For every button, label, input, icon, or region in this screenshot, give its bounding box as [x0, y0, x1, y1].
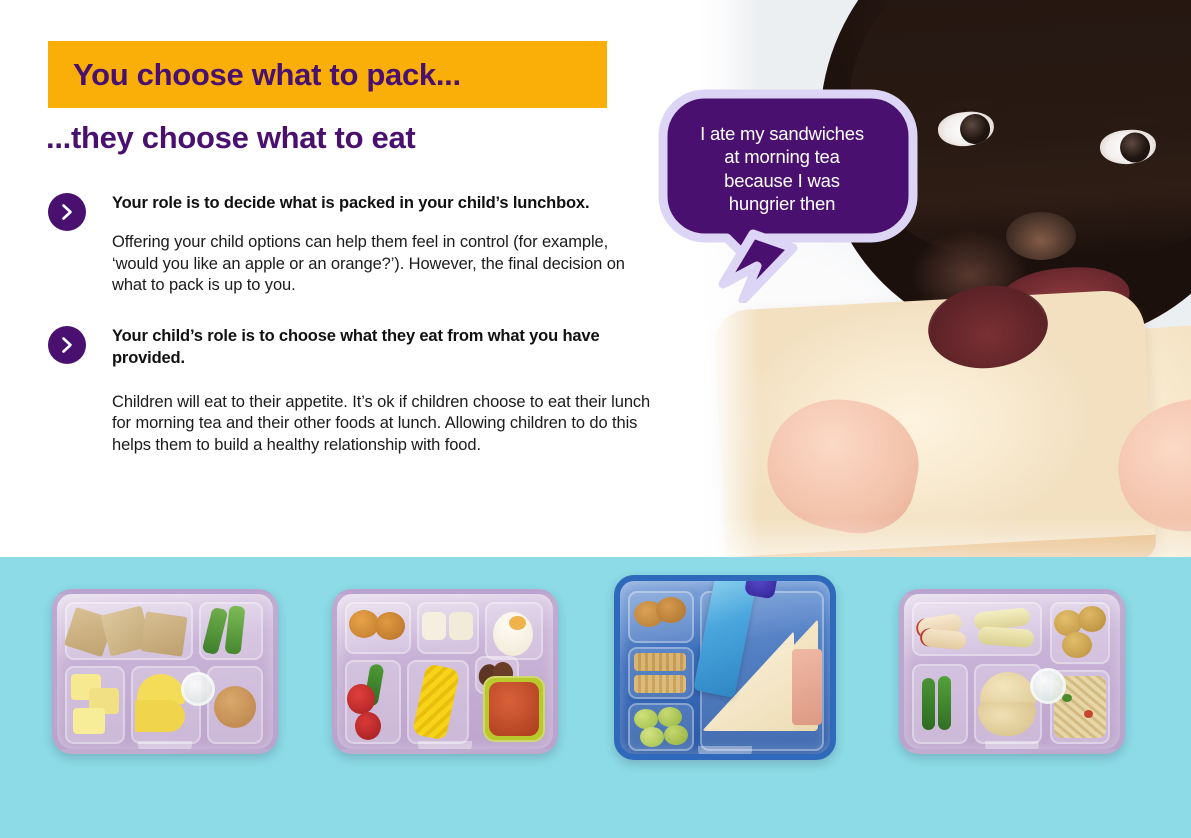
roti-wrap: [978, 702, 1036, 736]
fritter: [375, 612, 405, 640]
chevron-right-icon: [48, 193, 86, 231]
lunchbox-3-latch: [698, 746, 752, 758]
muesli-bar: [634, 675, 686, 693]
strawberry: [347, 684, 375, 714]
baked-beans: [489, 682, 539, 736]
cucumber-stick: [225, 605, 246, 654]
bullet-2-text: Children will eat to their appetite. It’…: [112, 370, 652, 457]
dip-pot: [1030, 668, 1066, 704]
speech-bubble: I ate my sandwiches at morning tea becau…: [657, 88, 919, 303]
grape: [640, 727, 664, 747]
rice-carrot: [1084, 710, 1093, 718]
dip-pot: [181, 672, 215, 706]
lunchbox-4-cell-falafel: [1050, 602, 1110, 664]
speech-line-4: hungrier then: [657, 192, 907, 215]
poster-page: You choose what to pack... ...they choos…: [0, 0, 1191, 838]
grape: [664, 725, 688, 745]
anzac-biscuit: [656, 597, 686, 623]
child-nose: [1006, 212, 1076, 260]
photo-bottom-fade: [700, 517, 1191, 557]
lunchbox-4-tray: [899, 589, 1125, 754]
lunchbox-2-cell-fritters: [345, 602, 411, 654]
rice-ball: [449, 612, 473, 640]
speech-line-1: I ate my sandwiches: [657, 122, 907, 145]
corn-cob: [412, 663, 460, 740]
pear-slice: [977, 626, 1034, 648]
muesli-bar: [634, 653, 686, 671]
falafel-ball: [1078, 606, 1106, 632]
chevron-right-icon: [48, 326, 86, 364]
cucumber-stick: [922, 678, 935, 730]
lunchbox-3-cell-biscuits: [628, 591, 694, 643]
grape: [634, 709, 658, 729]
bullet-2-heading: Your child’s role is to choose what they…: [112, 326, 612, 370]
left-content-panel: You choose what to pack... ...they choos…: [0, 0, 700, 557]
lunchbox-2-latch: [418, 741, 472, 753]
lunchbox-3: [614, 575, 836, 760]
lunchbox-1-tray: [52, 589, 278, 754]
lunchbox-band: [0, 557, 1191, 838]
lunchbox-3-cell-muesli: [628, 647, 694, 699]
lunchbox-2-cell-corn: [407, 660, 469, 744]
apple-slice: [919, 628, 967, 651]
ham-filling: [792, 649, 822, 725]
title-banner: You choose what to pack...: [48, 41, 607, 108]
lunchbox-1-cell-sandwich: [65, 602, 193, 660]
pineapple-piece: [135, 700, 185, 732]
lunchbox-1-latch: [138, 741, 192, 753]
bullet-1-text: Offering your child options can help the…: [112, 215, 652, 297]
lunchbox-2: [332, 589, 558, 754]
choc-chip-muffin: [214, 686, 256, 728]
egg-yolk: [509, 616, 526, 630]
speech-line-3: because I was: [657, 169, 907, 192]
strawberry: [355, 712, 381, 740]
bullet-1-body: Your role is to decide what is packed in…: [112, 193, 652, 297]
lunchbox-2-cell-egg: [485, 602, 543, 660]
falafel-ball: [1062, 632, 1092, 658]
page-title: You choose what to pack...: [48, 59, 461, 90]
lunchbox-2-cell-rice-balls: [417, 602, 479, 654]
bullet-1-heading: Your role is to decide what is packed in…: [112, 193, 652, 215]
bullet-item-2: Your child’s role is to choose what they…: [48, 326, 652, 457]
bullet-item-1: Your role is to decide what is packed in…: [48, 193, 652, 297]
grape: [658, 707, 682, 727]
lunchbox-row: [0, 557, 1191, 838]
lunchbox-4: [899, 589, 1125, 754]
page-subtitle: ...they choose what to eat: [46, 119, 415, 156]
lunchbox-2-tray: [332, 589, 558, 754]
lunchbox-4-latch: [985, 741, 1039, 753]
lunchbox-2-cell-beans: [483, 676, 545, 742]
sandwich-triangle: [140, 611, 187, 656]
lunchbox-1-cell-cheese: [65, 666, 125, 744]
speech-bubble-text: I ate my sandwiches at morning tea becau…: [657, 122, 907, 215]
speech-line-2: at morning tea: [657, 145, 907, 168]
lunchbox-1: [52, 589, 278, 754]
bullet-2-body: Your child’s role is to choose what they…: [112, 326, 652, 457]
lunchbox-3-tray: [614, 575, 836, 760]
lunchbox-4-cell-cucumber: [912, 664, 968, 744]
cucumber-stick: [938, 676, 951, 730]
rice-ball: [422, 612, 446, 640]
lunchbox-1-cell-cucumber: [199, 602, 263, 660]
lunchbox-1-cell-muffin: [207, 666, 263, 744]
cheese-slice: [73, 708, 105, 734]
lunchbox-2-cell-fruit-veg: [345, 660, 401, 744]
lunchbox-4-cell-fruit: [912, 602, 1042, 656]
lunchbox-3-cell-grapes: [628, 703, 694, 751]
rice-pea: [1062, 694, 1072, 702]
